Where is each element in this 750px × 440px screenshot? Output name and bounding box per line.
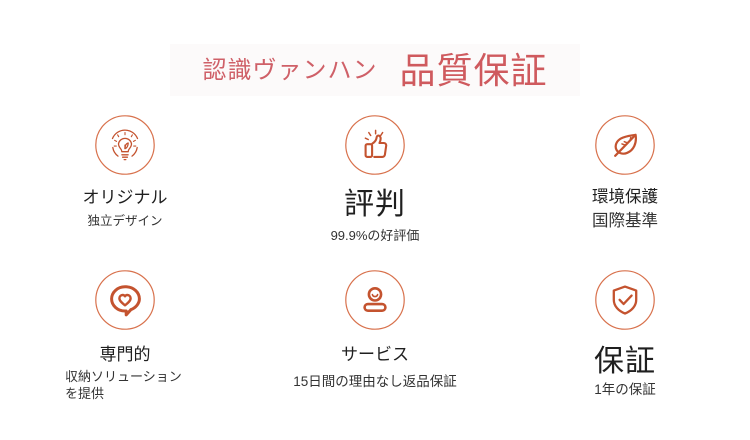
feature-subtitle: 1年の保証: [594, 381, 656, 399]
quality-guarantee-banner: 認識ヴァンハン 品質保証: [0, 0, 750, 440]
heading-subtitle: 認識ヴァンハン: [202, 59, 377, 83]
page-title: 品質保証: [399, 53, 547, 89]
leaf-icon: [594, 114, 656, 176]
feature-subtitle: 国際基準: [592, 210, 658, 232]
feature-title: オリジナル: [83, 188, 168, 208]
page-heading: 認識ヴァンハン 品質保証: [0, 40, 750, 102]
feature-item-reputation: 評判 99.9%の好評価: [250, 108, 500, 263]
shield-check-icon: [594, 269, 656, 331]
feature-title: 評判: [344, 188, 406, 223]
feature-item-eco: 環境保護 国際基準: [500, 108, 750, 263]
feature-title: サービス: [341, 345, 409, 365]
thumbs-up-icon: [344, 114, 406, 176]
feature-subtitle: 99.9%の好評価: [331, 227, 420, 245]
feature-subtitle: 独立デザイン: [87, 213, 162, 230]
feature-subtitle: 15日間の理由なし返品保証: [293, 373, 457, 391]
feature-item-guarantee: 保証 1年の保証: [500, 263, 750, 413]
feature-item-original: オリジナル 独立デザイン: [0, 108, 250, 263]
user-icon: [344, 269, 406, 331]
feature-title: 専門的: [100, 345, 151, 365]
speech-bubble-heart-icon: [94, 269, 156, 331]
feature-title: 保証: [594, 345, 656, 380]
lightbulb-leaf-icon: [94, 114, 156, 176]
feature-title: 環境保護: [592, 188, 658, 207]
feature-grid: オリジナル 独立デザイン 評判 99.9%の好評価: [0, 108, 750, 413]
feature-item-service: サービス 15日間の理由なし返品保証: [250, 263, 500, 413]
feature-item-professional: 専門的 収納ソリューションを提供: [0, 263, 250, 413]
feature-subtitle: 収納ソリューションを提供: [65, 368, 185, 403]
